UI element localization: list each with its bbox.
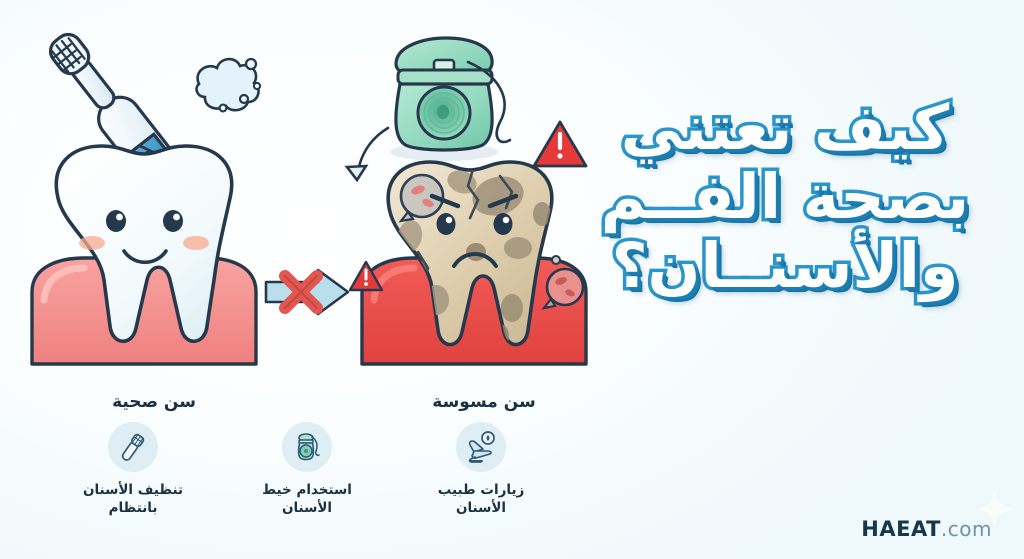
tip-brush-teeth[interactable]: تنظيف الأسنان بانتظام <box>58 422 208 547</box>
tip-label: تنظيف الأسنان بانتظام <box>83 481 183 517</box>
brand-suffix: .com <box>941 517 992 541</box>
dental-floss-icon <box>390 38 510 161</box>
tip-label: زيارات طبيب الأسنان <box>438 481 525 517</box>
tip-label-line1: تنظيف الأسنان <box>83 481 183 499</box>
page-title-line3: والأسنــان؟ <box>570 234 1000 297</box>
tip-label-line2: الأسنان <box>262 499 352 517</box>
healthy-tooth-caption: سن صحية <box>84 392 224 412</box>
oral-care-tips-row: تنظيف الأسنان بانتظام استخدام خيط الأسنا… <box>58 422 558 547</box>
tip-label-line2: الأسنان <box>438 499 525 517</box>
infographic-canvas: سن صحية سن مسوسة تنظيف الأسنان بانتظام <box>0 0 1024 559</box>
brand-name: HAEAT <box>861 517 941 541</box>
decayed-tooth-caption: سن مسوسة <box>404 392 564 412</box>
dental-chair-icon <box>456 422 506 472</box>
tip-use-floss[interactable]: استخدام خيط الأسنان <box>232 422 382 547</box>
toothbrush-icon <box>108 422 158 472</box>
blocked-arrow-icon <box>266 270 348 314</box>
healthy-tooth-illustration <box>32 146 256 364</box>
page-title-line2: بصحة الفــم <box>570 165 1000 228</box>
tip-dentist-visits[interactable]: زيارات طبيب الأسنان <box>406 422 556 547</box>
tip-label: استخدام خيط الأسنان <box>262 481 352 517</box>
page-title: كيف تعتني بصحة الفــم والأسنــان؟ <box>570 96 1000 304</box>
page-title-line1: كيف تعتني <box>570 96 1000 159</box>
tooth-comparison-illustration <box>0 0 600 430</box>
curved-arrow-down-icon <box>347 128 388 180</box>
tip-label-line1: زيارات طبيب <box>438 481 525 499</box>
tip-label-line1: استخدام خيط <box>262 481 352 499</box>
dental-floss-icon <box>282 422 332 472</box>
brand-watermark: HAEAT .com <box>861 517 992 541</box>
tip-label-line2: بانتظام <box>83 499 183 517</box>
